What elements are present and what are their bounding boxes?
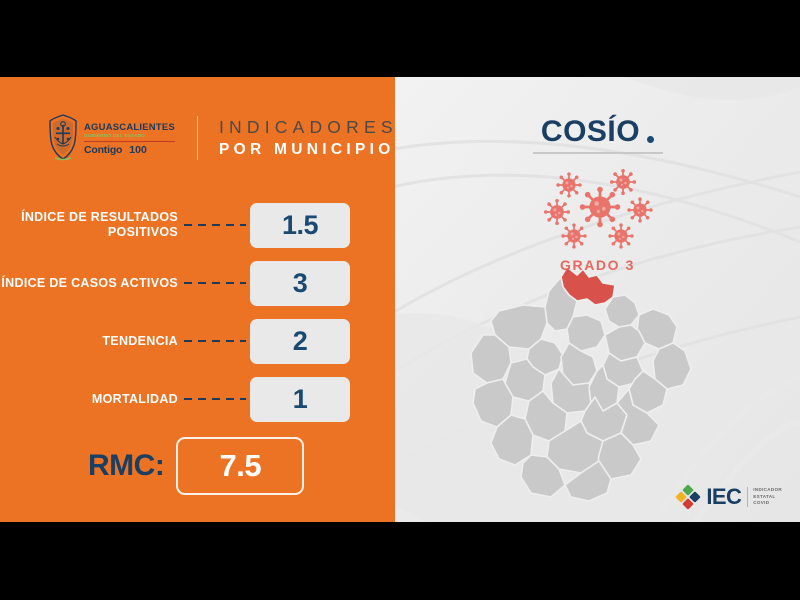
page-title: INDICADORES POR MUNICIPIO bbox=[219, 118, 395, 158]
iec-subtitle-line-1: INDICADOR bbox=[753, 487, 782, 494]
municipality-title: COSÍO bbox=[395, 115, 800, 154]
logo-program-number: 100 bbox=[129, 145, 147, 156]
map-panel: COSÍO bbox=[395, 77, 800, 522]
iec-diamond-icon bbox=[675, 484, 701, 510]
iec-subtitle: INDICADOR ESTATAL COVID bbox=[753, 487, 782, 508]
rmc-value: 7.5 bbox=[176, 437, 304, 495]
iec-logo: IEC INDICADOR ESTATAL COVID bbox=[675, 484, 782, 510]
government-wordmark: AGUASCALIENTES GOBIERNO DEL ESTADO Conti… bbox=[84, 121, 175, 155]
indicator-row: MORTALIDAD 1 bbox=[0, 374, 395, 424]
infographic-stage: AGUASCALIENTES GOBIERNO DEL ESTADO Conti… bbox=[0, 0, 800, 600]
title-underline bbox=[533, 152, 663, 154]
rmc-summary: RMC: 7.5 bbox=[0, 437, 395, 495]
logo-state-name: AGUASCALIENTES bbox=[84, 123, 175, 133]
indicator-label: ÍNDICE DE RESULTADOS POSITIVOS bbox=[0, 210, 180, 240]
logo-government-line: GOBIERNO DEL ESTADO bbox=[84, 134, 175, 139]
indicator-row: ÍNDICE DE CASOS ACTIVOS 3 bbox=[0, 258, 395, 308]
indicator-row: TENDENCIA 2 bbox=[0, 316, 395, 366]
indicator-dashed-connector bbox=[184, 282, 246, 284]
indicator-row: ÍNDICE DE RESULTADOS POSITIVOS 1.5 bbox=[0, 200, 395, 250]
logo-rule bbox=[84, 141, 175, 143]
government-logo: AGUASCALIENTES GOBIERNO DEL ESTADO Conti… bbox=[46, 110, 175, 166]
indicators-panel: AGUASCALIENTES GOBIERNO DEL ESTADO Conti… bbox=[0, 77, 395, 522]
iec-divider bbox=[747, 487, 748, 507]
aguascalientes-map-svg bbox=[463, 265, 733, 505]
indicator-dashed-connector bbox=[184, 398, 246, 400]
indicator-value: 1 bbox=[250, 377, 350, 422]
indicator-label: MORTALIDAD bbox=[0, 392, 180, 407]
virus-cluster-icon bbox=[543, 165, 658, 255]
panel-header: AGUASCALIENTES GOBIERNO DEL ESTADO Conti… bbox=[0, 107, 395, 169]
indicator-value: 3 bbox=[250, 261, 350, 306]
title-line-1: INDICADORES bbox=[219, 118, 395, 138]
indicator-dashed-connector bbox=[184, 224, 246, 226]
indicator-dashed-connector bbox=[184, 340, 246, 342]
header-divider bbox=[197, 116, 198, 160]
municipality-name: COSÍO bbox=[541, 115, 640, 149]
title-line-2: POR MUNICIPIO bbox=[219, 141, 395, 158]
iec-acronym: IEC bbox=[706, 484, 741, 510]
rmc-label: RMC: bbox=[88, 449, 164, 483]
grade-label: GRADO 3 bbox=[395, 257, 800, 273]
aguascalientes-coat-of-arms-icon bbox=[46, 113, 80, 163]
content-band: AGUASCALIENTES GOBIERNO DEL ESTADO Conti… bbox=[0, 77, 800, 522]
indicator-label: TENDENCIA bbox=[0, 334, 180, 349]
state-map bbox=[395, 265, 800, 515]
indicator-label: ÍNDICE DE CASOS ACTIVOS bbox=[0, 276, 180, 291]
iec-subtitle-line-3: COVID bbox=[753, 500, 782, 507]
indicator-value: 1.5 bbox=[250, 203, 350, 248]
logo-program-line: Contigo 100 bbox=[84, 145, 175, 156]
indicator-value: 2 bbox=[250, 319, 350, 364]
logo-program-name: Contigo bbox=[84, 145, 122, 156]
indicator-list: ÍNDICE DE RESULTADOS POSITIVOS 1.5 ÍNDIC… bbox=[0, 200, 395, 432]
title-dot-accent bbox=[647, 136, 654, 143]
iec-subtitle-line-2: ESTATAL bbox=[753, 494, 782, 501]
